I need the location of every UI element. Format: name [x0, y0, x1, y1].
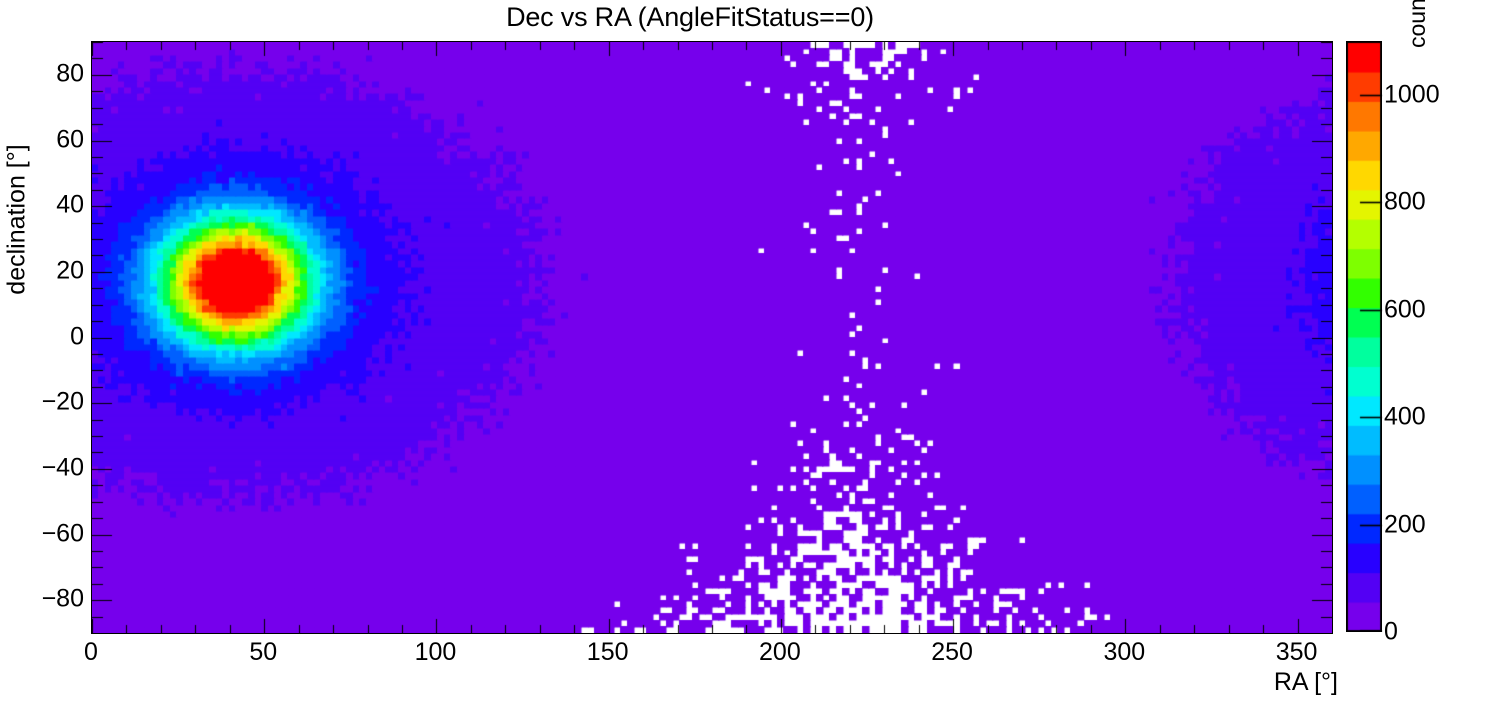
z-tick-label: 400: [1384, 403, 1426, 432]
z-tick-label: 600: [1384, 295, 1426, 324]
y-tick-label: −40: [42, 453, 84, 482]
plot-frame: [91, 41, 1333, 634]
z-tick-label: 0: [1384, 618, 1398, 647]
y-tick-label: −20: [42, 388, 84, 417]
x-tick-label: 150: [587, 638, 629, 667]
z-tick-label: 1000: [1384, 80, 1440, 109]
y-tick-label: 80: [56, 59, 84, 88]
x-tick-label: 50: [249, 638, 277, 667]
x-tick-label: 250: [931, 638, 973, 667]
histogram-data-layer: [92, 42, 1332, 633]
y-tick-label: 60: [56, 125, 84, 154]
page-title: Dec vs RA (AngleFitStatus==0): [0, 2, 1380, 33]
root-canvas: Dec vs RA (AngleFitStatus==0) 0501001502…: [0, 0, 1496, 722]
z-tick-label: 800: [1384, 188, 1426, 217]
x-tick-label: 0: [84, 638, 98, 667]
color-scale-bar[interactable]: [1346, 41, 1382, 632]
y-tick-label: −60: [42, 519, 84, 548]
z-axis-title: count: [1404, 0, 1431, 48]
z-tick-label: 200: [1384, 510, 1426, 539]
y-axis-title: declination [°]: [3, 120, 32, 320]
y-tick-label: 0: [70, 322, 84, 351]
y-tick-label: 20: [56, 256, 84, 285]
x-tick-label: 300: [1103, 638, 1145, 667]
y-tick-label: 40: [56, 191, 84, 220]
x-tick-label: 100: [415, 638, 457, 667]
x-axis-title: RA [°]: [1274, 668, 1338, 697]
x-tick-label: 200: [759, 638, 801, 667]
x-tick-label: 350: [1276, 638, 1318, 667]
y-tick-label: −80: [42, 585, 84, 614]
color-scale-gradient: [1346, 41, 1382, 632]
